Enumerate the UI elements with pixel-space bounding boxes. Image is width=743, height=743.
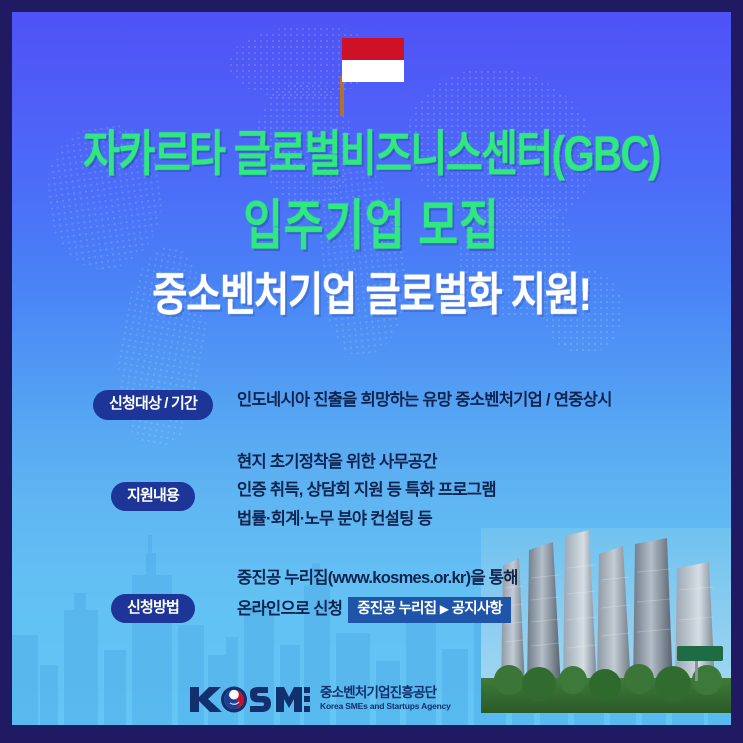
badge-how-to-apply: 신청방법 [111, 594, 195, 624]
kosme-english-name: Korea SMEs and Startups Agency [320, 702, 451, 711]
kosme-logo: 중소벤처기업진흥공단 Korea SMEs and Startups Agenc… [188, 684, 451, 714]
info-text: 중진공 누리집(www.kosmes.or.kr)을 통해 [237, 568, 711, 590]
logo-letter-m [276, 687, 302, 712]
info-text: 인도네시아 진출을 희망하는 유망 중소벤처기업 / 연중상시 [237, 390, 711, 412]
info-text: 인증 취득, 상담회 지원 등 특화 프로그램 [237, 480, 711, 502]
indonesia-flag [12, 34, 731, 116]
info-row-support-content: 지원내용 현지 초기정착을 위한 사무공간 인증 취득, 상담회 지원 등 특화… [85, 452, 711, 538]
info-text: 온라인으로 신청 [237, 600, 342, 618]
kosme-logo-svg [188, 684, 310, 714]
navigation-path-chip[interactable]: 중진공 누리집 ▶ 공지사항 [348, 597, 511, 623]
info-row-application-target: 신청대상 / 기간 인도네시아 진출을 희망하는 유망 중소벤처기업 / 연중상… [85, 390, 711, 420]
info-section: 신청대상 / 기간 인도네시아 진출을 희망하는 유망 중소벤처기업 / 연중상… [85, 390, 711, 644]
title-line-3: 중소벤처기업 글로벌화 지원! [12, 273, 731, 319]
text-col: 중진공 누리집(www.kosmes.or.kr)을 통해 온라인으로 신청중진… [221, 568, 711, 630]
flag-white-stripe [342, 60, 404, 82]
kosme-wordmark [188, 684, 310, 714]
badge-col: 신청방법 [85, 568, 221, 624]
text-col: 현지 초기정착을 위한 사무공간 인증 취득, 상담회 지원 등 특화 프로그램… [221, 452, 711, 538]
text-col: 인도네시아 진출을 희망하는 유망 중소벤처기업 / 연중상시 [221, 390, 711, 419]
badge-application-target: 신청대상 / 기간 [93, 390, 213, 420]
info-text-with-chip: 온라인으로 신청중진공 누리집 ▶ 공지사항 [237, 597, 711, 623]
title-line-2: 입주기업 모집 [12, 200, 731, 254]
info-text: 법률·회계·노무 분야 컨설팅 등 [237, 509, 711, 531]
flag-red-stripe [342, 38, 404, 60]
title-block: 자카르타 글로벌비즈니스센터(GBC) 입주기업 모집 중소벤처기업 글로벌화 … [12, 130, 731, 311]
info-text: 현지 초기정착을 위한 사무공간 [237, 452, 711, 474]
chip-label-after: 공지사항 [452, 601, 503, 617]
logo-letter-s [250, 687, 271, 712]
kosme-korean-name: 중소벤처기업진흥공단 [320, 686, 451, 701]
info-row-how-to-apply: 신청방법 중진공 누리집(www.kosmes.or.kr)을 통해 온라인으로… [85, 568, 711, 630]
chip-label-before: 중진공 누리집 [357, 601, 436, 617]
badge-col: 신청대상 / 기간 [85, 390, 221, 420]
chevron-right-icon: ▶ [440, 602, 449, 616]
kosme-logo-text: 중소벤처기업진흥공단 Korea SMEs and Startups Agenc… [320, 686, 451, 711]
badge-col: 지원내용 [85, 452, 221, 512]
poster-frame: 자카르타 글로벌비즈니스센터(GBC) 입주기업 모집 중소벤처기업 글로벌화 … [0, 0, 743, 743]
logo-letter-k [190, 687, 222, 712]
flag-svg [326, 34, 418, 116]
badge-support-content: 지원내용 [111, 482, 195, 512]
title-line-1: 자카르타 글로벌비즈니스센터(GBC) [12, 130, 731, 179]
poster-canvas: 자카르타 글로벌비즈니스센터(GBC) 입주기업 모집 중소벤처기업 글로벌화 … [12, 12, 731, 725]
